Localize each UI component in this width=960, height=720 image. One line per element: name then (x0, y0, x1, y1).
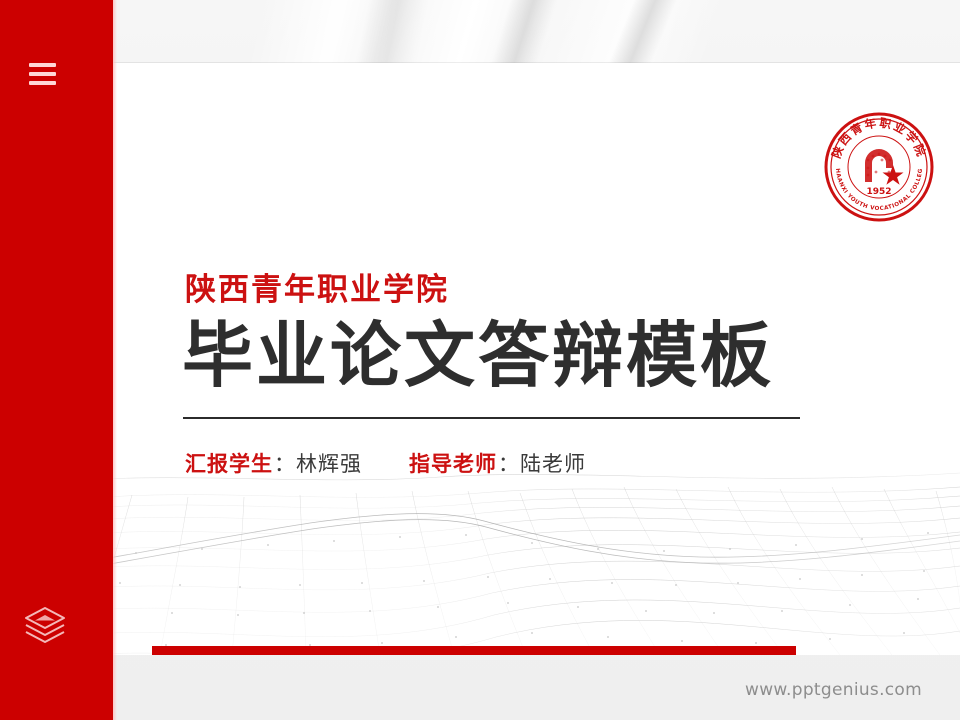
seal-star-icon (883, 165, 904, 185)
rail-edge-highlight (113, 0, 117, 720)
presentation-slide: 陕西青年职业学院 SHAANXI YOUTH VOCATIONAL COLLEG… (0, 0, 960, 720)
bottom-accent-bar (152, 646, 796, 655)
hamburger-bar-2 (29, 72, 56, 76)
meta-advisor-value: 陆老师 (520, 448, 586, 478)
wireframe-mesh-decoration (80, 465, 960, 655)
layers-stack-icon[interactable] (23, 605, 67, 645)
page-title: 毕业论文答辩模板 (182, 319, 774, 394)
hamburger-bar-3 (29, 81, 56, 85)
seal-year: 1952 (866, 187, 891, 197)
hamburger-menu-icon[interactable] (29, 63, 56, 85)
meta-student-label: 汇报学生 (185, 448, 273, 478)
meta-student-separator: ： (273, 448, 296, 478)
meta-student: 汇报学生 ： 林辉强 (185, 448, 362, 478)
watermark-url: www.pptgenius.com (745, 680, 922, 700)
school-name: 陕西青年职业学院 (185, 264, 449, 309)
meta-advisor-label: 指导老师 (409, 448, 497, 478)
meta-advisor: 指导老师 ： 陆老师 (409, 448, 586, 478)
meta-student-value: 林辉强 (296, 448, 362, 478)
hamburger-bar-1 (29, 63, 56, 67)
presenter-meta-row: 汇报学生 ： 林辉强 指导老师 ： 陆老师 (185, 448, 586, 478)
college-seal: 陕西青年职业学院 SHAANXI YOUTH VOCATIONAL COLLEG… (822, 110, 936, 224)
meta-advisor-separator: ： (497, 448, 520, 478)
title-divider (183, 417, 800, 419)
